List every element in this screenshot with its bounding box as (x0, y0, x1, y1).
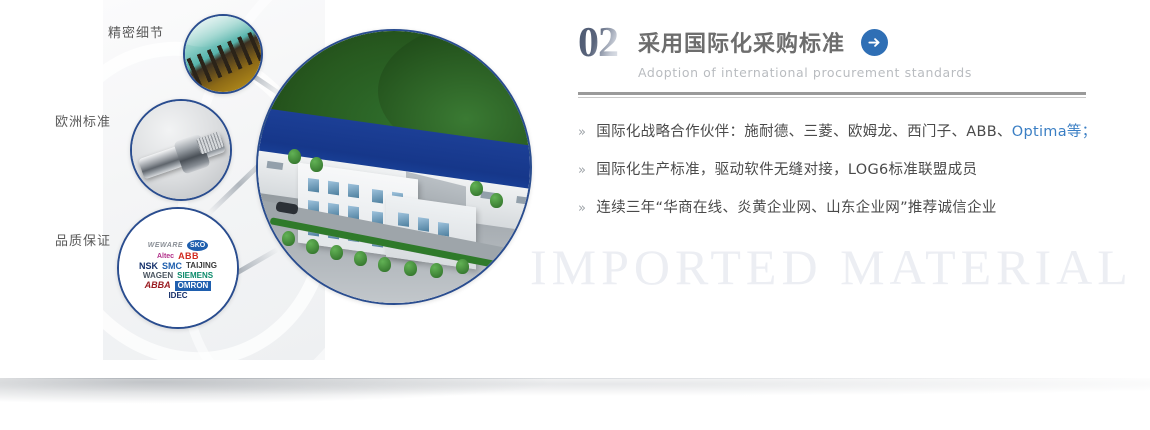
list-item-text-accent: Optima等； (1012, 124, 1097, 140)
label-european-standard: 欧洲标准 (55, 111, 111, 130)
tree (404, 261, 417, 276)
logo-row: WEWARE SKO (148, 240, 208, 251)
label-precision-detail: 精密细节 (108, 22, 164, 41)
page-subtitle: Adoption of international procurement st… (638, 65, 972, 80)
factory-aerial-photo (256, 29, 532, 305)
office-window (348, 184, 359, 199)
logo-wagen: WAGEN (143, 272, 173, 280)
logo-taijing: TAIJING (186, 262, 217, 270)
section-number: 02 (578, 24, 624, 64)
logo-nsk: NSK (139, 262, 158, 271)
logo-row: NSK SMC TAIJING (139, 262, 217, 271)
list-item-text: 国际化战略合作伙伴：施耐德、三菱、欧姆龙、西门子、ABB、Optima等； (596, 120, 1096, 141)
title-line: 采用国际化采购标准 (638, 26, 972, 58)
warehouse-window (267, 161, 284, 170)
logo-abb: ABB (178, 252, 199, 261)
logo-altec: Altec (157, 253, 174, 260)
list-item: » 国际化生产标准，驱动软件无缝对接，LOG6标准联盟成员 (578, 158, 1098, 179)
tree (430, 263, 443, 278)
logo-weware: WEWARE (148, 242, 183, 249)
tree (378, 257, 391, 272)
logo-smc: SMC (162, 262, 182, 271)
list-item: » 连续三年“华商在线、炎黄企业网、山东企业网”推荐诚信企业 (578, 196, 1098, 217)
heading-text-block: 采用国际化采购标准 Adoption of international proc… (624, 24, 972, 80)
warehouse-window (516, 196, 532, 205)
annex-window (418, 217, 429, 232)
logo-siemens: SIEMENS (177, 272, 213, 280)
logo-row: ABBA OMRON (145, 281, 212, 291)
office-window (328, 181, 339, 196)
office-window (372, 189, 383, 204)
bottom-shadow-band (0, 378, 1150, 430)
list-item-text-main: 国际化战略合作伙伴：施耐德、三菱、欧姆龙、西门子、ABB、 (596, 124, 1012, 140)
arrow-right-circle-icon[interactable] (861, 29, 888, 56)
label-quality-assurance: 品质保证 (55, 230, 111, 249)
logo-idec: IDEC (168, 292, 187, 300)
annex-window (398, 212, 409, 227)
tree (282, 231, 295, 246)
tree (330, 245, 343, 260)
bullet-marker-icon: » (578, 163, 586, 178)
list-item-text: 连续三年“华商在线、炎黄企业网、山东企业网”推荐诚信企业 (596, 196, 996, 217)
logo-sko: SKO (187, 240, 208, 251)
logo-abba: ABBA (145, 281, 171, 290)
brand-logos-collage: WEWARE SKO Altec ABB NSK SMC TAIJING WAG… (117, 207, 239, 329)
watermark-text: IMPORTED MATERIAL (530, 238, 1133, 296)
section-heading: 02 采用国际化采购标准 Adoption of international p… (578, 24, 1098, 80)
tree (490, 193, 503, 208)
logo-row: WAGEN SIEMENS (143, 272, 213, 280)
bullet-marker-icon: » (578, 125, 586, 140)
logo-wall: WEWARE SKO Altec ABB NSK SMC TAIJING WAG… (119, 209, 237, 327)
bullet-marker-icon: » (578, 201, 586, 216)
section-content: 02 采用国际化采购标准 Adoption of international p… (578, 24, 1098, 234)
logo-omron: OMRON (175, 281, 212, 291)
office-window (308, 178, 319, 193)
logo-row: IDEC (168, 292, 187, 300)
tree (456, 259, 469, 274)
divider-thick (578, 92, 1086, 95)
tree (288, 149, 301, 164)
feature-list: » 国际化战略合作伙伴：施耐德、三菱、欧姆龙、西门子、ABB、Optima等； … (578, 120, 1098, 217)
tree (470, 181, 483, 196)
gear-macro-photo (183, 14, 263, 94)
list-item-text: 国际化生产标准，驱动软件无缝对接，LOG6标准联盟成员 (596, 158, 977, 179)
list-item: » 国际化战略合作伙伴：施耐德、三菱、欧姆龙、西门子、ABB、Optima等； (578, 120, 1098, 141)
tree (306, 239, 319, 254)
divider-thin (578, 97, 1086, 98)
page-title: 采用国际化采购标准 (638, 26, 845, 58)
ball-screw-shaft-photo (130, 99, 232, 201)
logo-row: Altec ABB (157, 252, 199, 261)
tree (310, 157, 323, 172)
tree (354, 251, 367, 266)
